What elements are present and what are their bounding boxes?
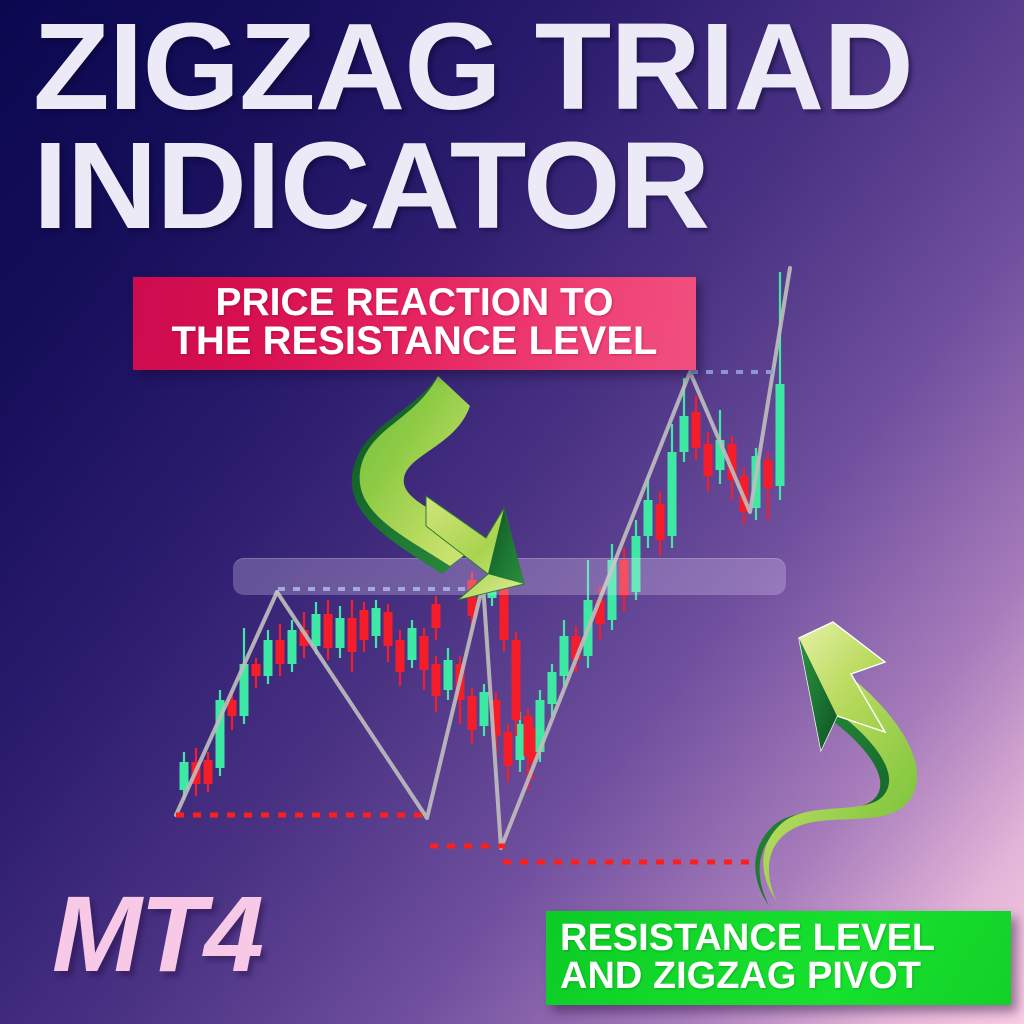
title-line-2: INDICATOR [33, 127, 1024, 246]
green-banner-line-1: RESISTANCE LEVEL [560, 919, 1001, 957]
poster-canvas: ZIGZAG TRIAD INDICATOR PRICE REACTION TO… [0, 0, 1024, 1024]
title-line-1: ZIGZAG TRIAD [33, 8, 1024, 127]
green-callout-banner: RESISTANCE LEVEL AND ZIGZAG PIVOT [546, 911, 1011, 1005]
pink-callout-banner: PRICE REACTION TO THE RESISTANCE LEVEL [133, 277, 696, 370]
curved-up-arrow-icon [733, 600, 963, 920]
platform-badge: MT4 [52, 880, 262, 988]
pink-banner-line-2: THE RESISTANCE LEVEL [145, 322, 684, 361]
curved-down-arrow-icon [338, 368, 588, 638]
green-banner-line-2: AND ZIGZAG PIVOT [560, 957, 1001, 995]
pink-banner-line-1: PRICE REACTION TO [145, 284, 684, 322]
page-title: ZIGZAG TRIAD INDICATOR [33, 8, 1013, 247]
